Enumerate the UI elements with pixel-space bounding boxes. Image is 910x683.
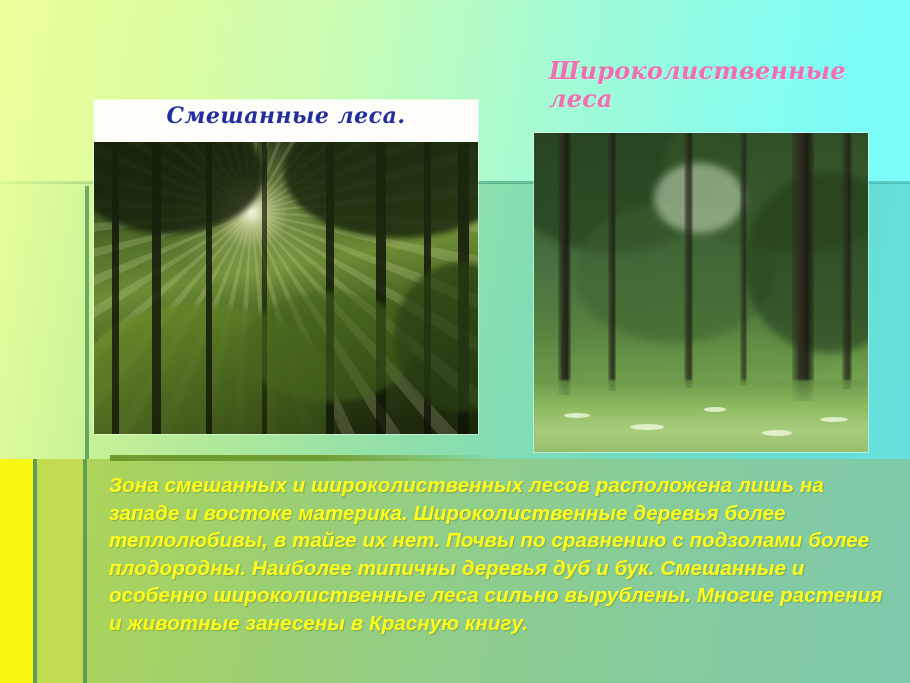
- slide-title: Широколиственные леса: [549, 57, 899, 114]
- photo-broadleaf-forest-scene: [534, 133, 868, 452]
- photo-mixed-forest: Смешанные леса.: [94, 100, 478, 434]
- meadow-highlight: [704, 407, 726, 412]
- canopy-clump: [654, 163, 744, 233]
- meadow-highlight: [564, 413, 590, 418]
- meadow-highlight: [820, 417, 848, 422]
- tree-trunk: [608, 133, 616, 391]
- slide-body-text: Зона смешанных и широколиственных лесов …: [109, 472, 899, 637]
- photo-broadleaf-forest: [534, 133, 868, 452]
- foliage-clump: [394, 262, 478, 412]
- presentation-slide: Широколиственные леса Смешанные леса.: [0, 0, 910, 683]
- tree-trunk: [262, 142, 267, 434]
- left-lime-bar: [37, 459, 83, 683]
- background-accent-stripe: [110, 455, 500, 461]
- left-bar-divider-2: [83, 459, 87, 683]
- tree-trunk: [558, 133, 571, 395]
- tree-trunk: [792, 133, 814, 401]
- left-yellow-bar: [0, 459, 33, 683]
- meadow-highlight: [762, 430, 792, 436]
- tree-trunk: [740, 133, 747, 385]
- vertical-accent-line: [85, 186, 89, 459]
- tree-trunk: [684, 133, 693, 388]
- photo-mixed-forest-scene: [94, 142, 478, 434]
- tree-trunk: [842, 133, 852, 389]
- photo-caption-text: Смешанные леса.: [94, 103, 478, 129]
- foliage-clump: [244, 292, 414, 402]
- meadow-highlight: [630, 424, 664, 430]
